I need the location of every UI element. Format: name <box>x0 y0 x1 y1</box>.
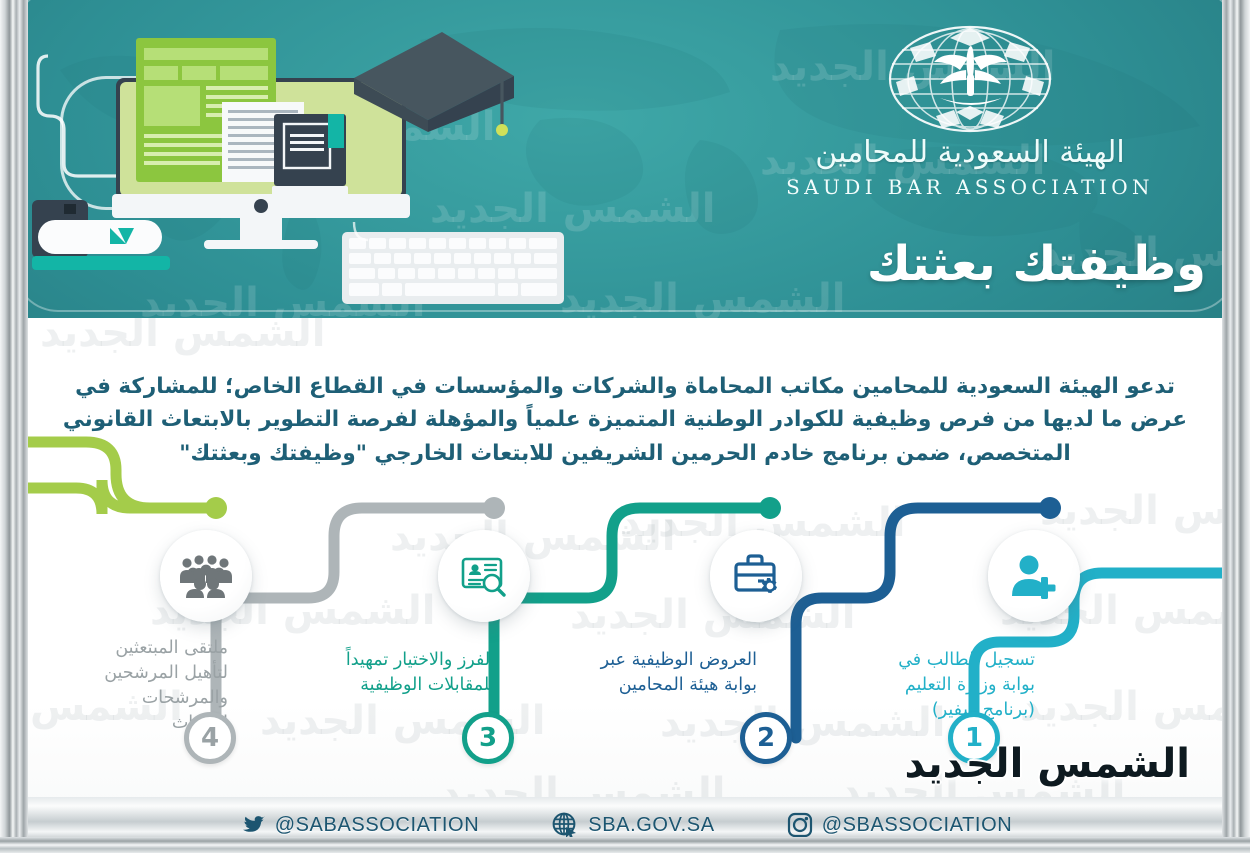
page-title: وظيفتك بعثتك <box>867 236 1206 292</box>
globe-cursor-icon <box>551 812 579 838</box>
social-website[interactable]: SBA.GOV.SA <box>551 812 714 838</box>
infographic-poster: الشمس الجديد الشمس الجديد الشمس الجديد ا… <box>0 0 1250 853</box>
brand-watermark: الشمس الجديد <box>904 741 1190 787</box>
step-1-node[interactable] <box>988 530 1080 622</box>
logo-arabic-name: الهيئة السعودية للمحامين <box>760 138 1180 168</box>
id-card-search-icon <box>458 550 510 602</box>
logo-block: الهيئة السعودية للمحامين SAUDI BAR ASSOC… <box>760 24 1180 224</box>
step-3-number: 3 <box>462 712 514 764</box>
step-2-node[interactable] <box>710 530 802 622</box>
logo-english-name: SAUDI BAR ASSOCIATION <box>760 175 1180 199</box>
step-4-node[interactable] <box>160 530 252 622</box>
footer-bar: @SABASSOCIATION SBA.GOV.SA @SBASSOCIATIO… <box>0 797 1250 853</box>
step-4-number: 4 <box>184 712 236 764</box>
step-3-label: الفرز والاختيار تمهيداً للمقابلات الوظيف… <box>245 648 495 698</box>
education-illustration <box>24 22 584 312</box>
social-twitter-handle: @SABASSOCIATION <box>275 814 480 837</box>
social-website-handle: SBA.GOV.SA <box>588 814 714 837</box>
step-2-number: 2 <box>740 712 792 764</box>
social-instagram-handle: @SBASSOCIATION <box>822 814 1013 837</box>
briefcase-gear-icon <box>730 550 782 602</box>
social-twitter[interactable]: @SABASSOCIATION <box>238 813 480 837</box>
saudi-bar-emblem-icon <box>880 24 1060 134</box>
group-people-icon <box>179 553 233 599</box>
step-1-label: تسجيل الطالب في بوابة وزارة التعليم (برن… <box>815 648 1035 723</box>
poster-header: الشمس الجديد الشمس الجديد الشمس الجديد ا… <box>0 0 1250 318</box>
social-instagram[interactable]: @SBASSOCIATION <box>787 812 1013 838</box>
step-3-node[interactable] <box>438 530 530 622</box>
user-add-icon <box>1008 550 1060 602</box>
step-2-label: العروض الوظيفية عبر بوابة هيئة المحامين <box>507 648 757 698</box>
instagram-camera-icon <box>787 812 813 838</box>
intro-paragraph: تدعو الهيئة السعودية للمحامين مكاتب المح… <box>60 370 1190 470</box>
twitter-bird-icon <box>238 813 266 837</box>
